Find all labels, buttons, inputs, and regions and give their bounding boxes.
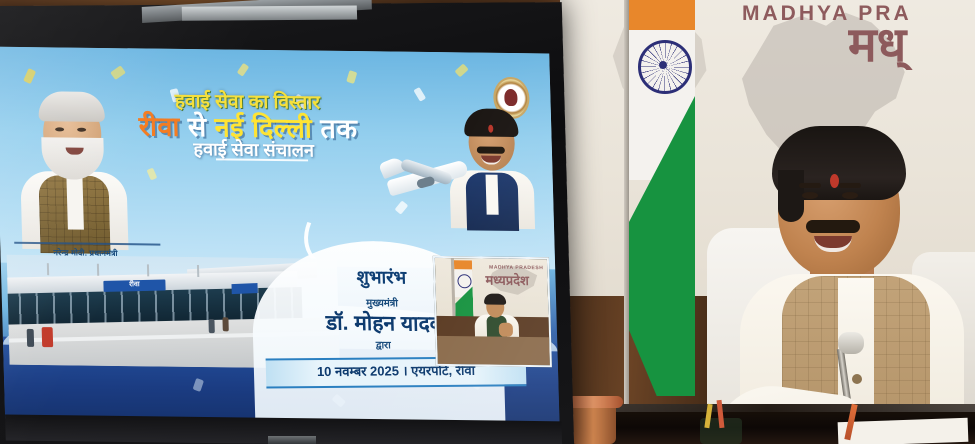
inset-ashoka-chakra-icon bbox=[457, 274, 471, 288]
tv-stand bbox=[268, 436, 316, 444]
pm-eye-right bbox=[77, 128, 86, 132]
cm-tilak bbox=[488, 125, 493, 133]
eye-right bbox=[842, 192, 858, 199]
tilak-mark bbox=[830, 174, 839, 188]
ashoka-chakra-icon bbox=[638, 40, 692, 94]
inset-person-hand bbox=[499, 323, 513, 337]
vest-button-2 bbox=[852, 374, 862, 384]
television: नरेन्द्र मोदी, प्रधानमंत्री bbox=[0, 2, 574, 444]
paper-sheet bbox=[838, 418, 969, 444]
microphone-icon bbox=[838, 332, 864, 354]
inset-person-hair bbox=[484, 293, 506, 304]
roof-flag bbox=[197, 265, 199, 277]
cm-vest-opening bbox=[486, 175, 499, 215]
airport-secondary-sign bbox=[231, 283, 257, 294]
pm-vest-opening bbox=[66, 177, 83, 229]
hair bbox=[772, 126, 906, 200]
eyebrow-right bbox=[839, 183, 861, 188]
person-silhouette bbox=[208, 319, 214, 333]
roof-flag bbox=[97, 264, 99, 276]
tv-screen: नरेन्द्र मोदी, प्रधानमंत्री bbox=[0, 47, 560, 426]
roof-flag bbox=[47, 263, 49, 275]
eyebrow-left bbox=[799, 183, 821, 188]
tv-top-glass bbox=[182, 5, 357, 20]
copper-tumbler bbox=[570, 404, 616, 444]
airport-name-text: रीवा bbox=[107, 280, 161, 290]
cm-hair bbox=[464, 108, 519, 137]
inset-backdrop-hindi: मध्यप्रदेश bbox=[485, 271, 548, 290]
india-flag-icon bbox=[629, 0, 695, 396]
person-silhouette bbox=[222, 317, 228, 331]
person-silhouette bbox=[42, 327, 54, 347]
cm-moustache bbox=[477, 147, 505, 154]
wall-text-hindi: मध् bbox=[848, 22, 975, 70]
pm-eye-left bbox=[55, 127, 64, 131]
moustache bbox=[806, 220, 860, 233]
person-silhouette bbox=[27, 329, 35, 347]
roof-flag bbox=[147, 264, 149, 276]
desk-highlight bbox=[560, 404, 975, 412]
eye-left bbox=[802, 192, 818, 199]
inset-desk-front bbox=[437, 336, 550, 365]
video-feed-inset: MADHYA PRADESH मध्यप्रदेश bbox=[433, 256, 552, 367]
screenshot-root: MADHYA PRA मध् bbox=[0, 0, 975, 444]
chief-minister-person bbox=[744, 126, 959, 444]
